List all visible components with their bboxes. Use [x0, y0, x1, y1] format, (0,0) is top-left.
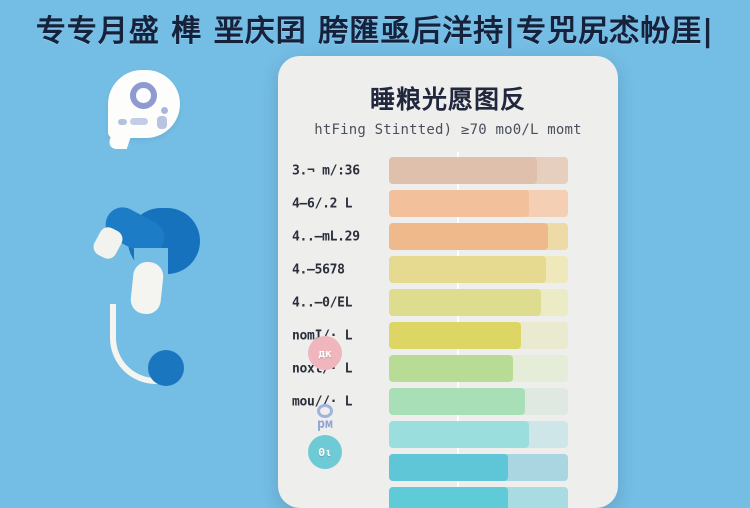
chart-row[interactable] — [278, 484, 618, 508]
bar-label: 4..—0/EL — [292, 295, 352, 310]
horizontal-bar-chart: 3.¬ m/:364—6/.2 L4..—mL.294.—56784..—0/E… — [278, 152, 618, 508]
badge-pink[interactable]: дк — [308, 336, 342, 370]
bar-fill — [389, 487, 508, 508]
badge-teal[interactable]: Θι — [308, 435, 342, 469]
chart-row[interactable]: 3.¬ m/:36 — [278, 154, 618, 187]
bar-label: 4.—5678 — [292, 262, 345, 277]
bubble-dot-icon — [161, 107, 168, 114]
chart-card: 睡粮光愿图反 htFing Stintted) ≥70 mo0/L momt 3… — [278, 56, 618, 508]
bar-label: 4..—mL.29 — [292, 229, 360, 244]
bar-fill — [389, 289, 541, 316]
bubble-shape-icon — [157, 116, 167, 129]
speech-bubble-icon — [108, 70, 180, 138]
bubble-line-icon — [118, 119, 127, 125]
bar-fill — [389, 421, 529, 448]
card-title: 睡粮光愿图反 — [278, 80, 618, 116]
glyph-body-icon: рм — [313, 418, 337, 432]
bar-fill — [389, 355, 513, 382]
card-subtitle: htFing Stintted) ≥70 mo0/L momt — [278, 122, 618, 138]
chart-row[interactable]: 4..—0/EL — [278, 286, 618, 319]
small-figure-glyph-icon: рм — [312, 404, 338, 434]
glyph-ring-icon — [317, 404, 333, 418]
bar-label: 4—6/.2 L — [292, 196, 352, 211]
screen-root: 专专月盛 榫 垩庆囝 胯匯亟后洋持|专兕尻怸帉厓| 睡粮光愿图反 htFing … — [0, 0, 750, 500]
left-decoration-panel — [88, 60, 238, 440]
bar-label: 3.¬ m/:36 — [292, 163, 360, 178]
bubble-line-2-icon — [130, 118, 148, 125]
chart-row[interactable]: 4..—mL.29 — [278, 220, 618, 253]
device-ball-icon — [148, 350, 184, 386]
bar-fill — [389, 454, 508, 481]
page-title: 专专月盛 榫 垩庆囝 胯匯亟后洋持|专兕尻怸帉厓| — [0, 6, 750, 50]
magnifier-ring-icon — [130, 82, 157, 109]
bar-fill — [389, 190, 529, 217]
bar-fill — [389, 388, 525, 415]
bar-fill — [389, 322, 521, 349]
question-mark-device-icon — [88, 200, 218, 390]
chart-row[interactable]: 4—6/.2 L — [278, 187, 618, 220]
bar-fill — [389, 157, 537, 184]
chart-row[interactable]: 4.—5678 — [278, 253, 618, 286]
bar-fill — [389, 223, 548, 250]
bar-fill — [389, 256, 546, 283]
